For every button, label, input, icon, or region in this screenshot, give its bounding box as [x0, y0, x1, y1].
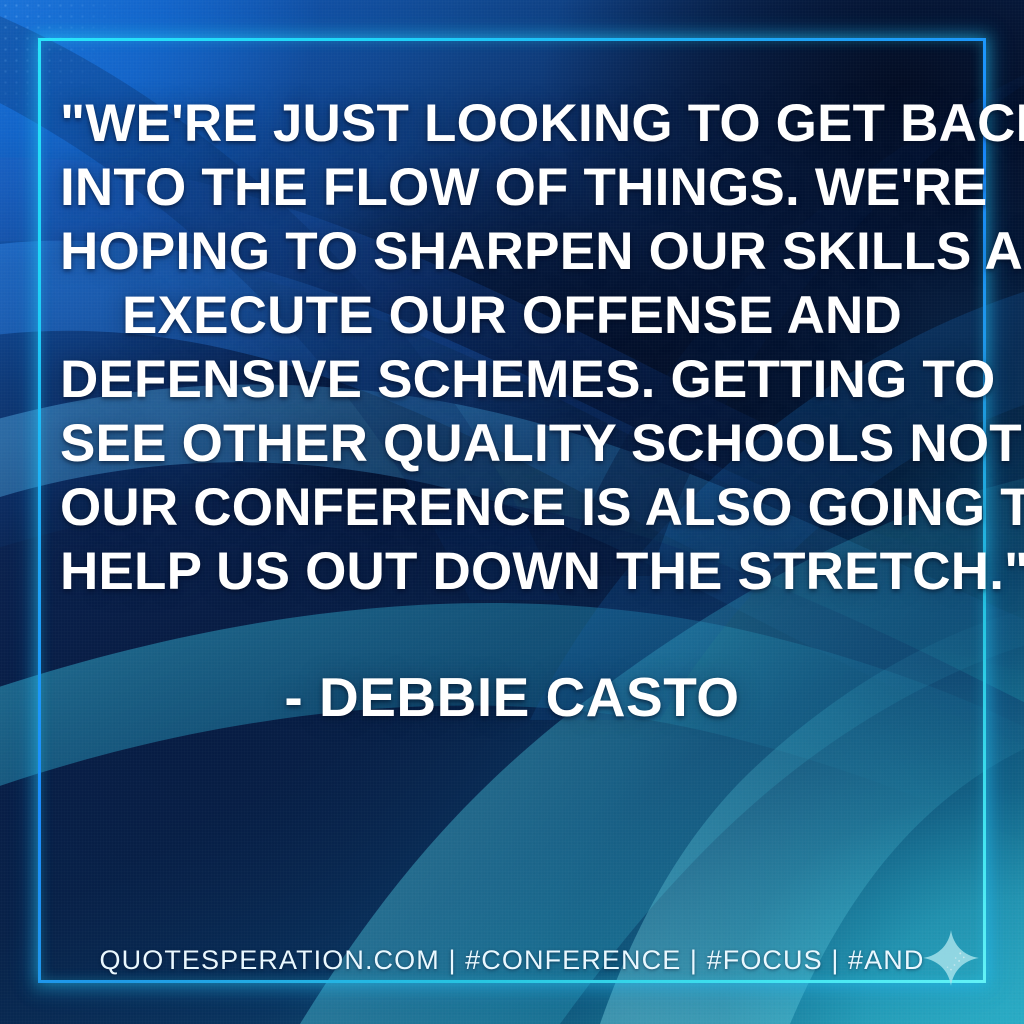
quote-line: EXECUTE OUR OFFENSE AND: [60, 284, 964, 348]
quote-author: - DEBBIE CASTO: [60, 604, 964, 728]
quote-line: "WE'RE JUST LOOKING TO GET BACK: [60, 92, 964, 156]
quote-line: HELP US OUT DOWN THE STRETCH.": [60, 540, 964, 604]
quote-line: DEFENSIVE SCHEMES. GETTING TO: [60, 348, 964, 412]
quote-line: OUR CONFERENCE IS ALSO GOING TO: [60, 476, 964, 540]
footer-bar: QUOTESPERATION.COM | #CONFERENCE | #FOCU…: [0, 934, 1024, 986]
quote-poster: "WE'RE JUST LOOKING TO GET BACK INTO THE…: [0, 0, 1024, 1024]
quote-content: "WE'RE JUST LOOKING TO GET BACK INTO THE…: [60, 92, 964, 728]
quote-text: "WE'RE JUST LOOKING TO GET BACK INTO THE…: [60, 92, 964, 604]
quote-line: SEE OTHER QUALITY SCHOOLS NOT IN: [60, 412, 964, 476]
quote-line: HOPING TO SHARPEN OUR SKILLS AND: [60, 220, 964, 284]
footer-attribution-text: QUOTESPERATION.COM | #CONFERENCE | #FOCU…: [100, 945, 925, 975]
quote-line: INTO THE FLOW OF THINGS. WE'RE: [60, 156, 964, 220]
sparkle-icon: [922, 929, 980, 987]
